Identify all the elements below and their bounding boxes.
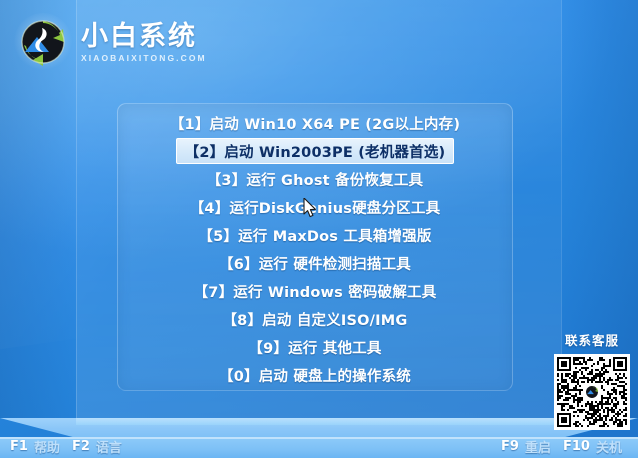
boot-menu-item-6[interactable]: 【6】运行 硬件检测扫描工具 — [211, 249, 419, 277]
statusbar-right: F9重启F10关机 — [501, 437, 628, 456]
statusbar-label-f9: 重启 — [525, 437, 551, 456]
customer-support-block: 联系客服 — [552, 330, 632, 430]
brand-name-cn: 小白系统 — [81, 23, 207, 51]
boot-menu-item-2[interactable]: 【2】启动 Win2003PE (老机器首选) — [176, 138, 455, 164]
boot-menu-item-1[interactable]: 【1】启动 Win10 X64 PE (2G以上内存) — [162, 109, 468, 137]
statusbar-label-f2: 语言 — [96, 437, 122, 456]
recycle-globe-icon — [14, 13, 72, 71]
statusbar-label-f10: 关机 — [596, 437, 622, 456]
statusbar-key-f2: F2 — [72, 439, 90, 454]
boot-menu-item-4[interactable]: 【4】运行DiskGenius硬盘分区工具 — [182, 193, 449, 221]
statusbar-left: F1帮助F2语言 — [10, 437, 128, 456]
support-title: 联系客服 — [552, 330, 632, 349]
boot-menu-item-7[interactable]: 【7】运行 Windows 密码破解工具 — [186, 277, 445, 305]
boot-menu-screen: 小白系统 XIAOBAIXITONG.COM 【1】启动 Win10 X64 P… — [0, 0, 638, 458]
boot-menu-item-3[interactable]: 【3】运行 Ghost 备份恢复工具 — [199, 165, 432, 193]
boot-menu-item-9[interactable]: 【9】运行 其他工具 — [240, 333, 389, 361]
boot-menu-item-5[interactable]: 【5】运行 MaxDos 工具箱增强版 — [190, 221, 439, 249]
qr-code-icon[interactable] — [554, 354, 630, 430]
stage-top-highlight — [76, 418, 562, 425]
boot-menu-panel: 【1】启动 Win10 X64 PE (2G以上内存)【2】启动 Win2003… — [117, 103, 513, 391]
statusbar-label-f1: 帮助 — [34, 437, 60, 456]
statusbar-key-f10: F10 — [563, 439, 590, 454]
brand-logo: 小白系统 XIAOBAIXITONG.COM — [14, 12, 230, 72]
brand-name-en: XIAOBAIXITONG.COM — [81, 53, 207, 63]
boot-menu-item-10[interactable]: 【0】启动 硬盘上的操作系统 — [211, 361, 419, 389]
qr-center-logo-icon — [584, 384, 601, 401]
statusbar-key-f1: F1 — [10, 439, 28, 454]
statusbar-key-f9: F9 — [501, 439, 519, 454]
boot-menu-item-8[interactable]: 【8】启动 自定义ISO/IMG — [214, 305, 415, 333]
